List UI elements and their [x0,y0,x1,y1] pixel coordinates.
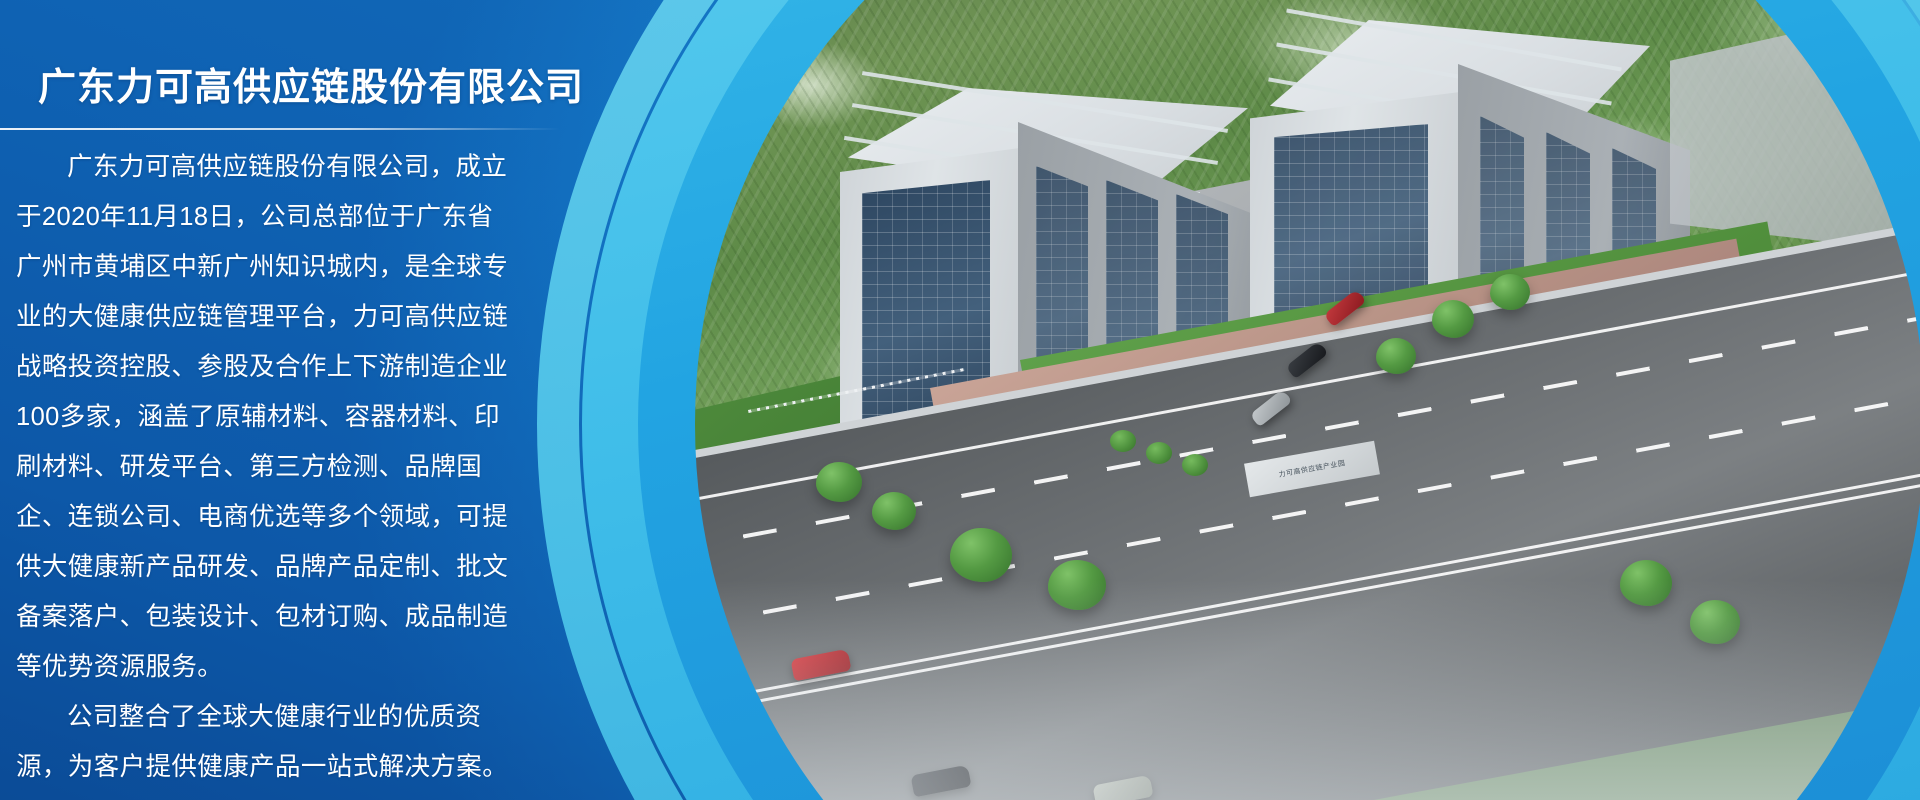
shrub [1146,442,1172,464]
tree [872,492,916,530]
page-title: 广东力可高供应链股份有限公司 [38,56,584,111]
campus-photo: 力可高供应链产业园 [690,0,1920,800]
title-divider [0,128,560,130]
shrub [1182,454,1208,476]
text-panel: 广东力可高供应链股份有限公司 广东力可高供应链股份有限公司，成立于2020年11… [0,0,640,800]
tree [816,462,862,502]
shrub [1110,430,1136,452]
campus-signboard-text: 力可高供应链产业园 [1278,458,1346,480]
company-description: 广东力可高供应链股份有限公司，成立于2020年11月18日，公司总部位于广东省广… [16,142,516,792]
tree [1490,274,1530,310]
tree [950,528,1012,582]
tree [1376,338,1416,374]
description-paragraph-2: 公司整合了全球大健康行业的优质资源，为客户提供健康产品一站式解决方案。 [16,692,516,792]
hero-banner: 力可高供应链产业园 [0,0,1920,800]
campus-photo-inner: 力可高供应链产业园 [690,0,1920,800]
tree [1432,300,1474,338]
description-paragraph-1: 广东力可高供应链股份有限公司，成立于2020年11月18日，公司总部位于广东省广… [16,142,516,692]
photo-haze [690,580,1920,800]
